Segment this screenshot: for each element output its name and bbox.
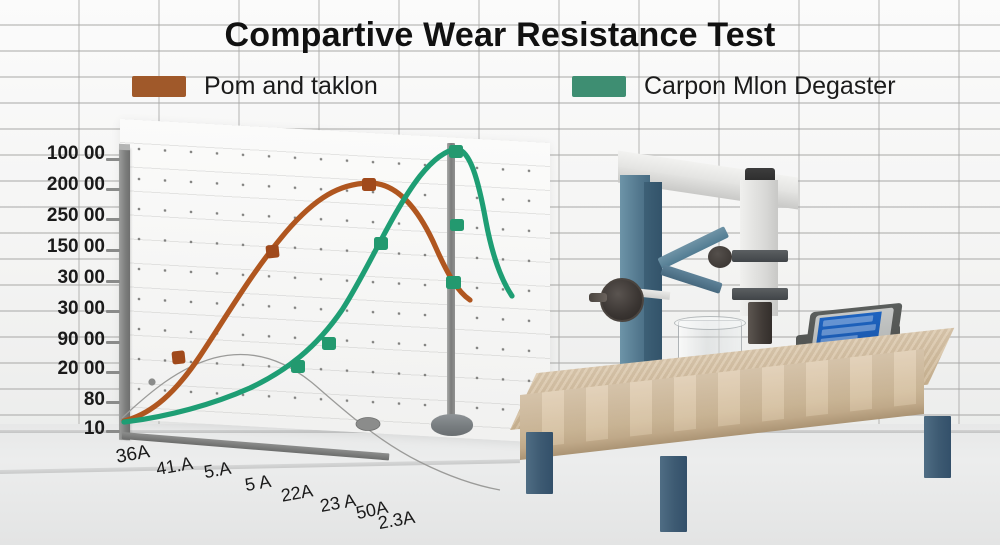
x-axis-label: 36A xyxy=(114,441,151,469)
bench-leg xyxy=(660,456,687,532)
screenshot-root: Compartive Wear Resistance Test Pom and … xyxy=(0,0,1000,545)
machine-handwheel-hub xyxy=(589,293,607,302)
x-axis-label: 41.A xyxy=(154,453,194,480)
machine-column-front xyxy=(644,182,662,387)
bench-leg xyxy=(526,432,553,494)
glass-beaker-lip xyxy=(674,316,746,330)
x-axis-label: 23 A xyxy=(318,490,357,517)
bench-leg xyxy=(924,416,951,478)
x-axis-label: 5 A xyxy=(243,471,272,496)
machine-link-arm-lower xyxy=(660,264,722,294)
machine-pivot-joint[interactable] xyxy=(708,246,732,268)
machine-probe xyxy=(748,302,772,344)
machine-clamp-band-lower[interactable] xyxy=(732,288,788,300)
x-axis-label: 22A xyxy=(279,480,314,506)
x-axis-label: 5.A xyxy=(202,458,232,483)
machine-clamp-band-upper[interactable] xyxy=(732,250,788,262)
wear-testing-machine xyxy=(500,140,1000,545)
